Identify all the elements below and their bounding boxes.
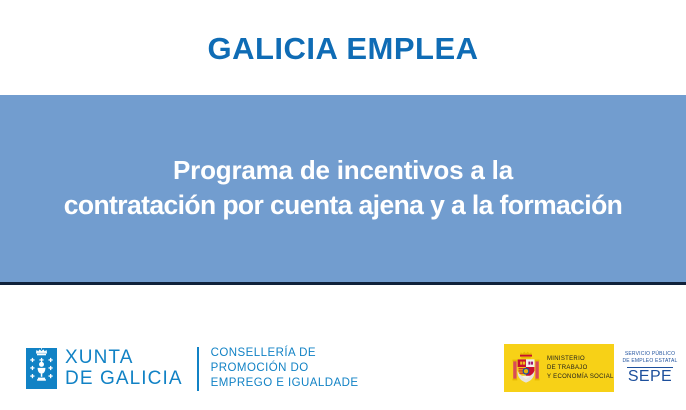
xunta-wordmark: XUNTA DE GALICIA <box>65 348 183 389</box>
header-zone: GALICIA EMPLEA <box>0 0 686 95</box>
subtitle-banner: Programa de incentivos a la contratación… <box>0 95 686 282</box>
ministerio-line-2: DE TRABAJO <box>547 364 614 373</box>
logo-vertical-divider <box>197 347 199 391</box>
ministerio-block: MINISTERIO DE TRABAJO Y ECONOMÍA SOCIAL <box>504 344 614 392</box>
xunta-wordmark-line-1: XUNTA <box>65 348 183 369</box>
sepe-acronym: SEPE <box>628 369 672 385</box>
ministerio-line-3: Y ECONOMÍA SOCIAL <box>547 373 614 382</box>
conselleria-line-3: EMPREGO E IGUALDADE <box>211 376 359 391</box>
subtitle-line-1: Programa de incentivos a la <box>163 154 523 187</box>
xunta-de-galicia-logo: XUNTA DE GALICIA CONSELLERÍA DE PROMOCIÓ… <box>26 346 359 392</box>
gobierno-de-espana-logo: MINISTERIO DE TRABAJO Y ECONOMÍA SOCIAL … <box>504 344 686 392</box>
galicia-coat-of-arms-icon <box>26 348 57 389</box>
subtitle-line-2: contratación por cuenta ajena y a la for… <box>54 189 633 223</box>
sepe-line-2: DE EMPLEO ESTATAL <box>622 358 677 365</box>
sepe-block: SERVICIO PÚBLICO DE EMPLEO ESTATAL SEPE <box>614 344 686 392</box>
ministerio-line-1: MINISTERIO <box>547 355 614 364</box>
footer-zone: XUNTA DE GALICIA CONSELLERÍA DE PROMOCIÓ… <box>0 285 686 410</box>
conselleria-wordmark: CONSELLERÍA DE PROMOCIÓN DO EMPREGO E IG… <box>211 346 359 392</box>
conselleria-line-2: PROMOCIÓN DO <box>211 361 359 376</box>
sepe-line-1: SERVICIO PÚBLICO <box>625 351 675 358</box>
ministerio-wordmark: MINISTERIO DE TRABAJO Y ECONOMÍA SOCIAL <box>547 355 614 382</box>
xunta-wordmark-line-2: DE GALICIA <box>65 369 183 390</box>
conselleria-line-1: CONSELLERÍA DE <box>211 346 359 361</box>
page-title: GALICIA EMPLEA <box>207 33 478 64</box>
spain-coat-of-arms-icon <box>511 350 541 386</box>
